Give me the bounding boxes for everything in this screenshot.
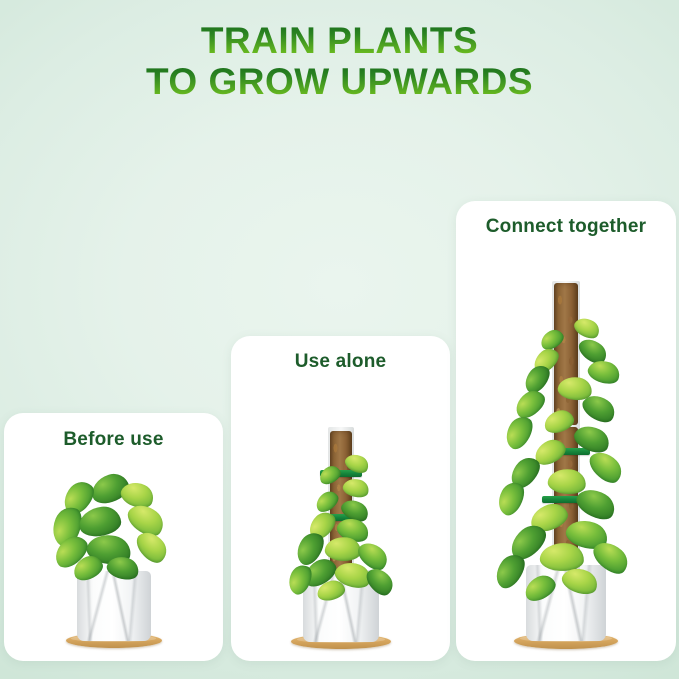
card-label-use-alone: Use alone — [231, 351, 450, 373]
page-title: TRAIN PLANTS TO GROW UPWARDS — [0, 20, 679, 103]
infographic-canvas: TRAIN PLANTS TO GROW UPWARDS Before use — [0, 0, 679, 679]
plant-scene-connect-together — [456, 241, 676, 661]
plant-scene-use-alone — [231, 376, 450, 661]
card-label-connect-together: Connect together — [456, 216, 676, 238]
card-label-before-use: Before use — [4, 429, 223, 451]
plant-scene-before-use — [4, 451, 223, 661]
title-line-2: TO GROW UPWARDS — [0, 61, 679, 102]
card-use-alone[interactable]: Use alone — [231, 336, 450, 661]
pothos-foliage — [478, 315, 654, 605]
card-connect-together[interactable]: Connect together — [456, 201, 676, 661]
pothos-foliage — [271, 453, 411, 603]
pothos-foliage — [39, 473, 189, 583]
title-line-1: TRAIN PLANTS — [0, 20, 679, 61]
card-before-use[interactable]: Before use — [4, 413, 223, 661]
